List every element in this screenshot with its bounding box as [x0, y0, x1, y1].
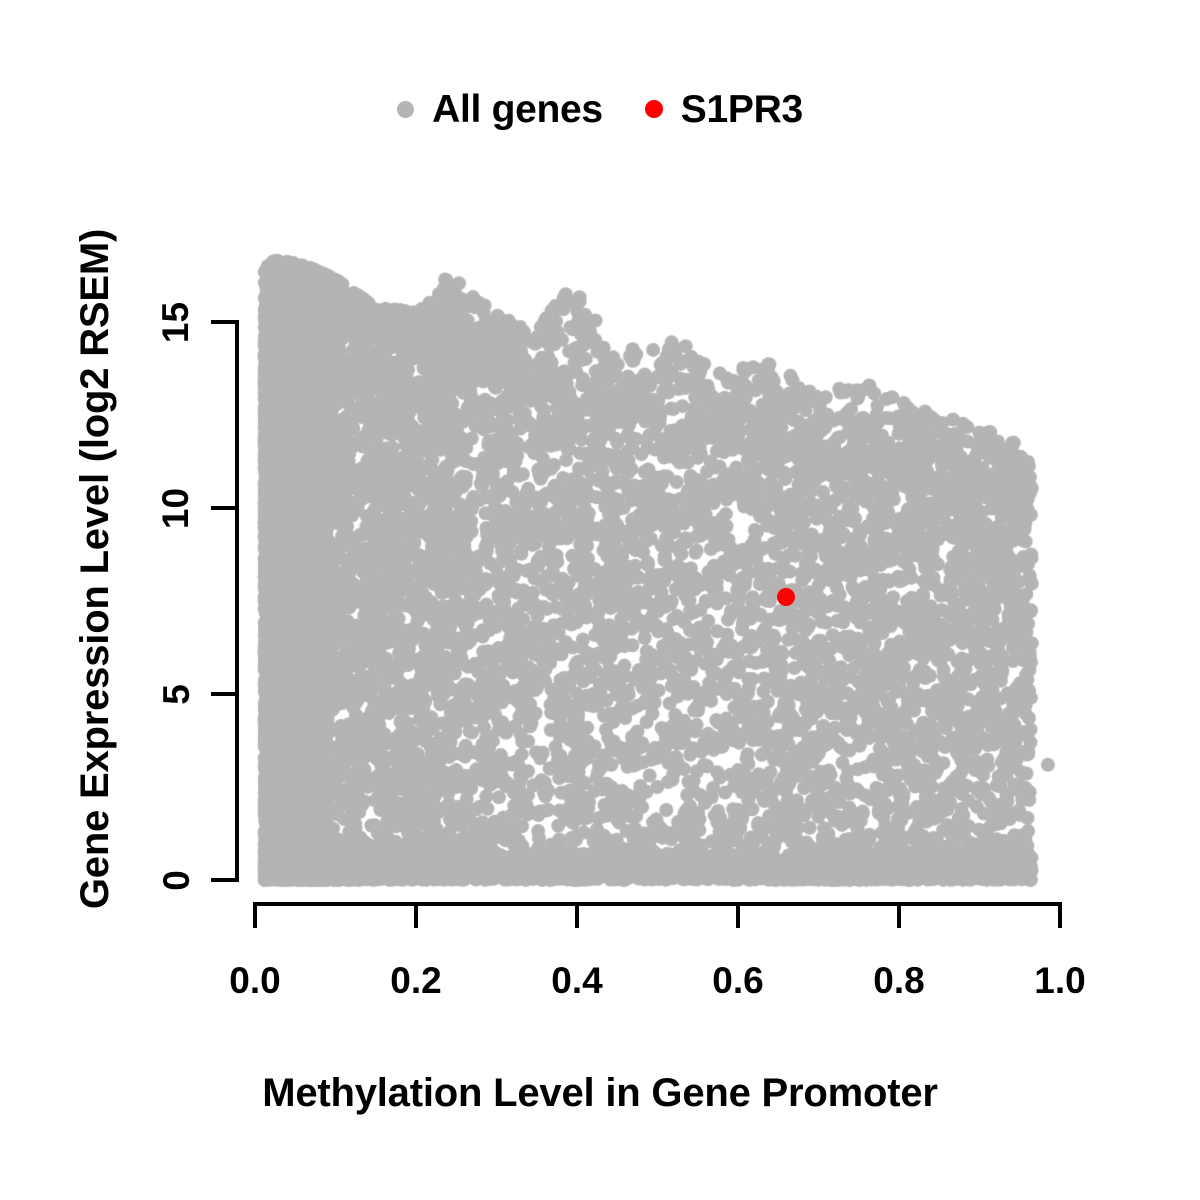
y-axis-line — [235, 322, 239, 882]
y-axis-tick-label: 10 — [150, 488, 202, 528]
x-axis-tick — [575, 902, 579, 928]
y-axis-tick — [211, 320, 239, 324]
x-axis-tick — [736, 902, 740, 928]
plot-area: 051015 0.00.20.40.60.81.0 — [0, 0, 1200, 1200]
x-axis-tick — [414, 902, 418, 928]
y-axis-title-container: Gene Expression Level (log2 RSEM) — [69, 119, 121, 1019]
y-axis-title: Gene Expression Level (log2 RSEM) — [75, 229, 115, 909]
x-axis-tick-label: 0.2 — [356, 962, 476, 999]
x-axis-title: Methylation Level in Gene Promoter — [0, 1073, 1200, 1113]
y-axis-tick — [211, 878, 239, 882]
x-axis-tick-label: 1.0 — [1000, 962, 1120, 999]
x-axis-tick — [253, 902, 257, 928]
scatter-point-cloud — [0, 0, 1200, 1200]
y-axis-tick — [211, 506, 239, 510]
x-axis-tick-label: 0.0 — [195, 962, 315, 999]
x-axis-tick — [897, 902, 901, 928]
y-axis-tick-label: 5 — [150, 674, 202, 714]
y-axis-tick — [211, 692, 239, 696]
x-axis-tick-label: 0.4 — [517, 962, 637, 999]
x-axis-tick — [1058, 902, 1062, 928]
scatter-plot-figure: All genes S1PR3 051015 0.00.20.40.60.81.… — [0, 0, 1200, 1200]
x-axis-tick-label: 0.6 — [678, 962, 798, 999]
x-axis-line — [255, 902, 1061, 906]
y-axis-tick-label: 15 — [150, 302, 202, 342]
y-axis-tick-label: 0 — [150, 860, 202, 900]
x-axis-tick-label: 0.8 — [839, 962, 959, 999]
